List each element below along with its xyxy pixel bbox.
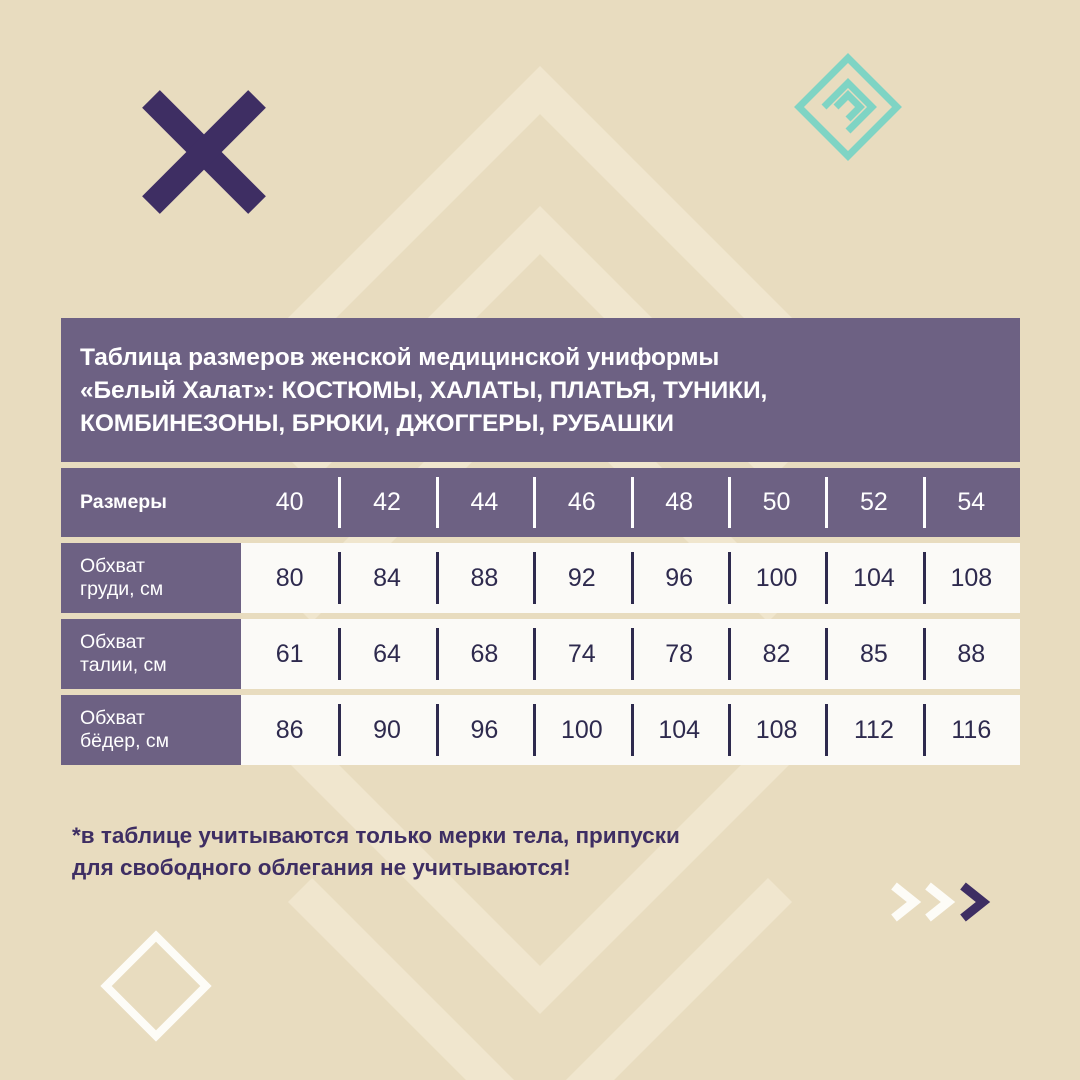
- value-cell: 85: [825, 619, 922, 689]
- value-cell: 96: [436, 695, 533, 765]
- value-cell: 108: [923, 543, 1020, 613]
- value-cell: 74: [533, 619, 630, 689]
- value-cell: 92: [533, 543, 630, 613]
- value-cell: 96: [631, 543, 728, 613]
- value-cell: 64: [338, 619, 435, 689]
- size-cell: 52: [825, 468, 922, 537]
- size-cell: 44: [436, 468, 533, 537]
- size-cell: 48: [631, 468, 728, 537]
- value-cell: 108: [728, 695, 825, 765]
- row-label-line-1: Обхват: [80, 631, 145, 653]
- value-cell: 112: [825, 695, 922, 765]
- value-cell: 100: [533, 695, 630, 765]
- table-title-block: Таблица размеров женской медицинской уни…: [61, 318, 1020, 462]
- value-cell: 116: [923, 695, 1020, 765]
- value-cell: 78: [631, 619, 728, 689]
- value-cell: 104: [825, 543, 922, 613]
- value-cell: 80: [241, 543, 338, 613]
- value-cell: 90: [338, 695, 435, 765]
- row-cells: 86 90 96 100 104 108 112 116: [241, 695, 1020, 765]
- title-line-3: КОМБИНЕЗОНЫ, БРЮКИ, ДЖОГГЕРЫ, РУБАШКИ: [80, 408, 1001, 441]
- row-label: Обхват талии, см: [61, 619, 241, 689]
- size-cell: 54: [923, 468, 1020, 537]
- size-table: Таблица размеров женской медицинской уни…: [61, 318, 1020, 765]
- header-cells: 40 42 44 46 48 50 52 54: [241, 468, 1020, 537]
- value-cell: 88: [923, 619, 1020, 689]
- table-row: Обхват бёдер, см 86 90 96 100 104 108 11…: [61, 695, 1020, 765]
- triple-chevron-right-icon: [888, 878, 992, 926]
- row-label-line-2: бёдер, см: [80, 730, 169, 752]
- teal-diamond-icon: [793, 52, 903, 162]
- table-header-row: Размеры 40 42 44 46 48 50 52 54: [61, 468, 1020, 537]
- footnote: *в таблице учитываются только мерки тела…: [72, 820, 972, 884]
- row-label-line-2: талии, см: [80, 654, 167, 676]
- row-label: Обхват груди, см: [61, 543, 241, 613]
- row-cells: 61 64 68 74 78 82 85 88: [241, 619, 1020, 689]
- row-label: Обхват бёдер, см: [61, 695, 241, 765]
- row-cells: 80 84 88 92 96 100 104 108: [241, 543, 1020, 613]
- size-cell: 50: [728, 468, 825, 537]
- table-row: Обхват груди, см 80 84 88 92 96 100 104 …: [61, 543, 1020, 613]
- value-cell: 68: [436, 619, 533, 689]
- row-label-line-2: груди, см: [80, 578, 163, 600]
- value-cell: 100: [728, 543, 825, 613]
- value-cell: 88: [436, 543, 533, 613]
- row-label-line-1: Обхват: [80, 707, 145, 729]
- footnote-line-2: для свободного облегания не учитываются!: [72, 852, 972, 884]
- value-cell: 86: [241, 695, 338, 765]
- size-cell: 46: [533, 468, 630, 537]
- value-cell: 84: [338, 543, 435, 613]
- value-cell: 104: [631, 695, 728, 765]
- size-cell: 40: [241, 468, 338, 537]
- title-line-1: Таблица размеров женской медицинской уни…: [80, 342, 1001, 375]
- header-label: Размеры: [61, 468, 241, 537]
- row-label-line-1: Обхват: [80, 555, 145, 577]
- footnote-line-1: *в таблице учитываются только мерки тела…: [72, 820, 972, 852]
- size-cell: 42: [338, 468, 435, 537]
- value-cell: 82: [728, 619, 825, 689]
- title-line-2: «Белый Халат»: КОСТЮМЫ, ХАЛАТЫ, ПЛАТЬЯ, …: [80, 375, 1001, 408]
- white-diamond-icon: [100, 930, 212, 1042]
- x-mark-icon: [145, 93, 263, 211]
- table-row: Обхват талии, см 61 64 68 74 78 82 85 88: [61, 619, 1020, 689]
- value-cell: 61: [241, 619, 338, 689]
